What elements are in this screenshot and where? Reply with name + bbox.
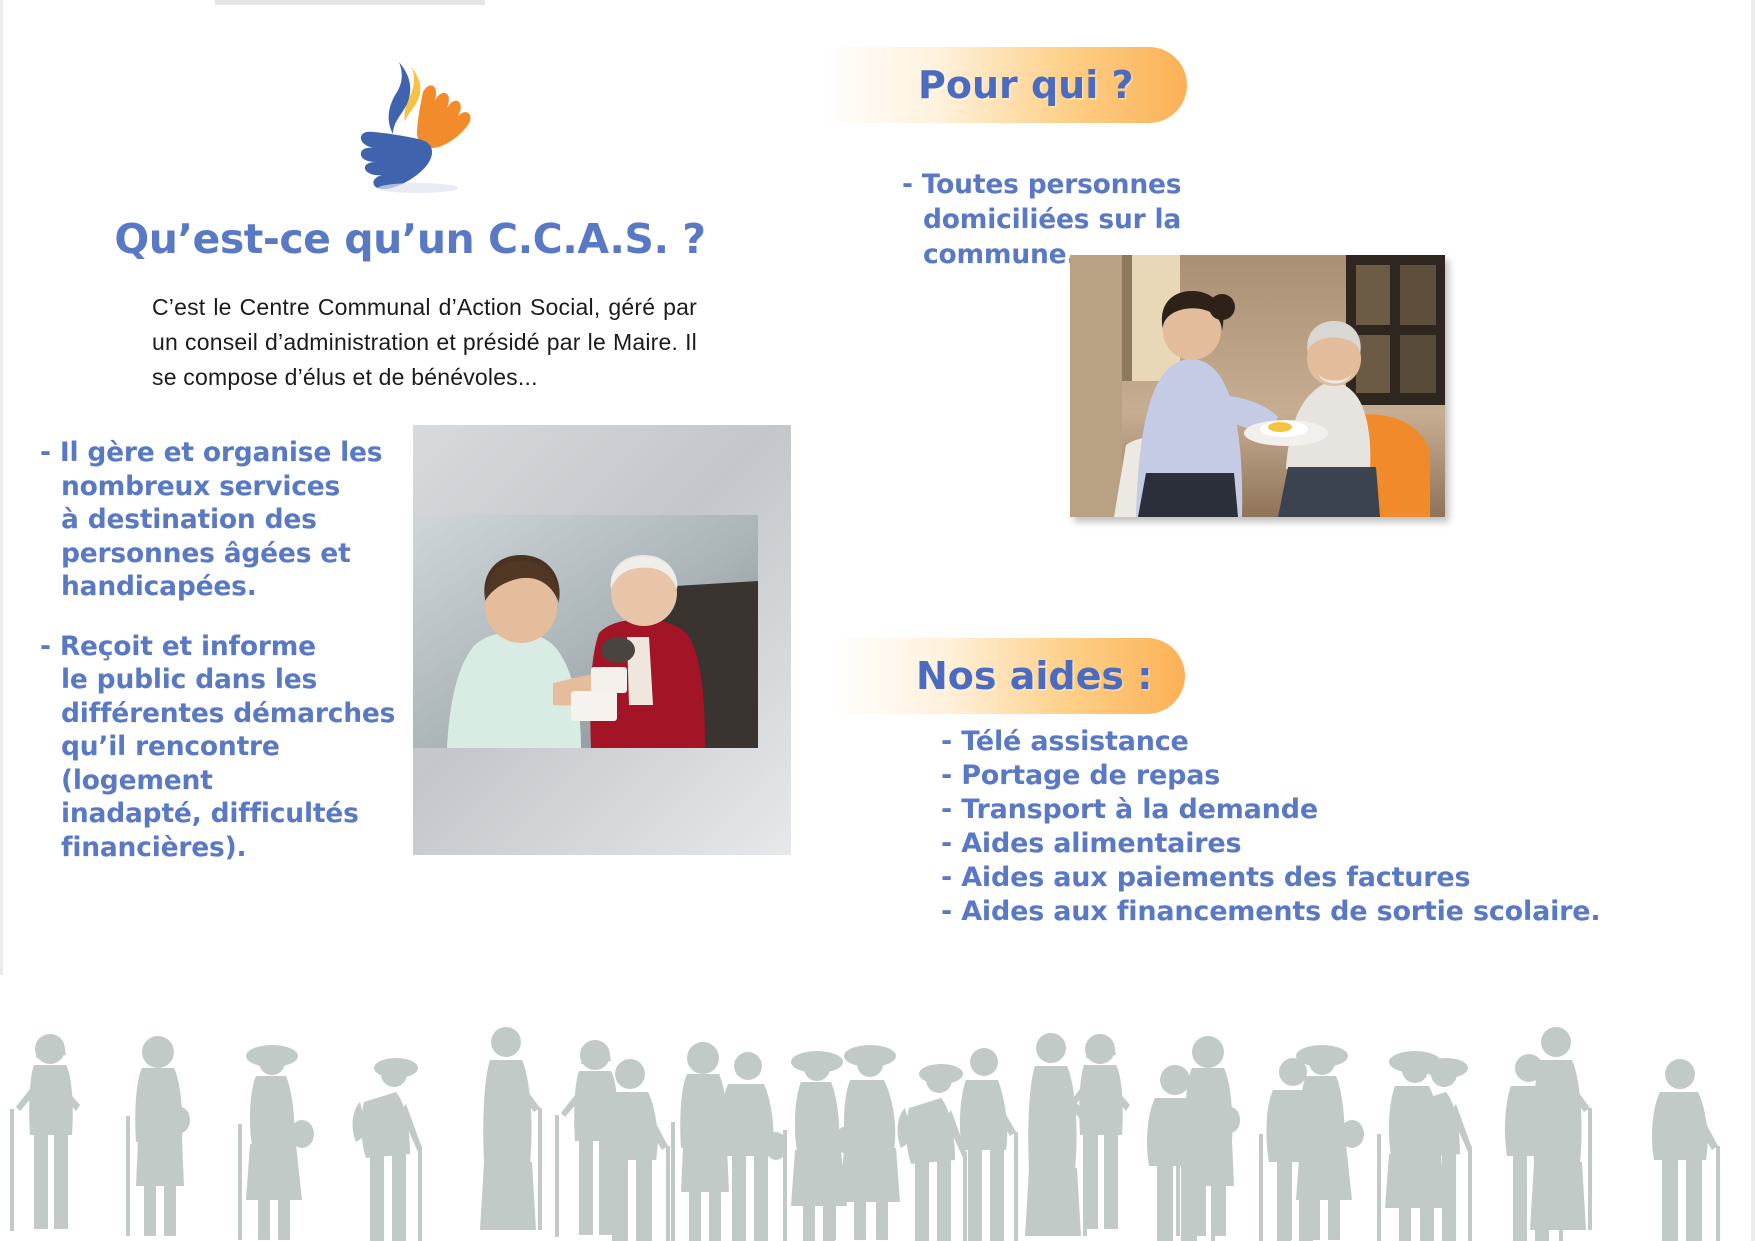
- banner-pour-qui: Pour qui ?: [820, 47, 1187, 123]
- aides-list-item: - Aides aux paiements des factures: [941, 861, 1581, 895]
- scan-edge-left: [0, 0, 3, 975]
- bullet-line: personnes âgées et: [40, 537, 420, 571]
- aides-list-item: - Portage de repas: [941, 759, 1581, 793]
- intro-paragraph: C’est le Centre Communal d’Action Social…: [152, 290, 697, 395]
- left-bullet-item-2: - Reçoit et informe le public dans les d…: [40, 630, 420, 865]
- banner-nos-aides: Nos aides :: [830, 638, 1185, 714]
- brochure-page: Qu’est-ce qu’un C.C.A.S. ? C’est le Cent…: [0, 0, 1755, 1241]
- bullet-line: domiciliées sur la: [902, 202, 1322, 237]
- banner-pour-qui-label: Pour qui ?: [918, 63, 1134, 107]
- aides-list-item: - Télé assistance: [941, 725, 1581, 759]
- left-bullet-item-1: - Il gère et organise les nombreux servi…: [40, 436, 420, 604]
- bullet-line: handicapées.: [40, 570, 420, 604]
- bullet-line: qu’il rencontre (logement: [40, 730, 420, 797]
- aides-list-item: - Aides aux financements de sortie scola…: [941, 895, 1581, 929]
- left-bullet-list: - Il gère et organise les nombreux servi…: [40, 436, 420, 890]
- bullet-line: financières).: [40, 831, 420, 865]
- banner-nos-aides-label: Nos aides :: [916, 654, 1152, 698]
- bullet-line: nombreux services: [40, 470, 420, 504]
- bullet-line: - Reçoit et informe: [40, 630, 420, 664]
- ccas-logo: [337, 28, 499, 195]
- bullet-line: à destination des: [40, 503, 420, 537]
- bullet-line: différentes démarches: [40, 697, 420, 731]
- bullet-line: inadapté, difficultés: [40, 797, 420, 831]
- aides-list-item: - Transport à la demande: [941, 793, 1581, 827]
- bullet-line: - Toutes personnes: [902, 167, 1322, 202]
- scan-edge-top: [215, 0, 485, 5]
- photo-aide-a-domicile-repas: [1070, 255, 1445, 517]
- aides-list: - Télé assistance - Portage de repas - T…: [941, 725, 1581, 929]
- aides-list-item: - Aides alimentaires: [941, 827, 1581, 861]
- photo-jeune-homme-et-dame-agee: [413, 515, 758, 748]
- silhouettes-personnes-agees-band: [0, 976, 1755, 1241]
- bullet-line: le public dans les: [40, 663, 420, 697]
- page-title: Qu’est-ce qu’un C.C.A.S. ?: [60, 215, 760, 263]
- bullet-line: - Il gère et organise les: [40, 436, 420, 470]
